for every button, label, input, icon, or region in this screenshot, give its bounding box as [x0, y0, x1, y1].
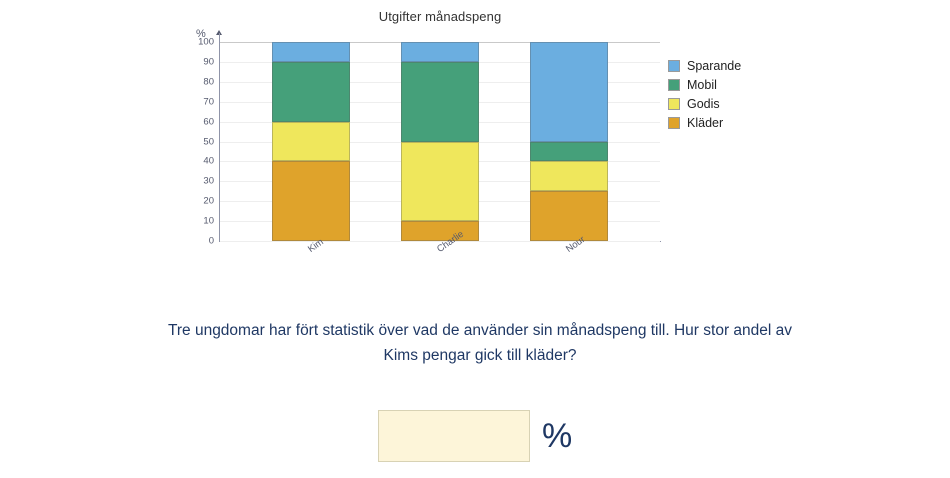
- question-text: Tre ungdomar har fört statistik över vad…: [150, 318, 810, 368]
- bar-segment-kläder: [530, 191, 608, 241]
- legend-label: Mobil: [687, 78, 717, 92]
- y-tick-label: 80: [188, 76, 214, 87]
- y-tick-label: 0: [188, 236, 214, 247]
- bar-segment-sparande: [530, 42, 608, 142]
- legend-swatch-icon: [668, 98, 680, 110]
- chart-title: Utgifter månadspeng: [220, 9, 660, 24]
- legend-swatch-icon: [668, 60, 680, 72]
- y-tick-label: 90: [188, 56, 214, 67]
- bar-segment-mobil: [401, 62, 479, 142]
- bar-segment-kläder: [272, 161, 350, 241]
- legend-label: Sparande: [687, 59, 741, 73]
- bar-segment-sparande: [272, 42, 350, 62]
- answer-row: %: [378, 410, 572, 462]
- percent-unit-label: %: [542, 419, 572, 453]
- y-tick-label: 10: [188, 216, 214, 227]
- bar-segment-sparande: [401, 42, 479, 62]
- bar-segment-kläder: [401, 221, 479, 241]
- bar-kim: [272, 42, 350, 241]
- y-axis-ticks: 1009080706050403020100: [186, 42, 214, 241]
- y-tick-label: 30: [188, 176, 214, 187]
- legend-label: Godis: [687, 97, 720, 111]
- answer-input[interactable]: [378, 410, 530, 462]
- legend-swatch-icon: [668, 117, 680, 129]
- y-tick-label: 100: [188, 37, 214, 48]
- y-tick-label: 60: [188, 116, 214, 127]
- chart-legend: SparandeMobilGodisKläder: [668, 56, 788, 132]
- y-tick-label: 70: [188, 96, 214, 107]
- legend-item-godis[interactable]: Godis: [668, 94, 788, 113]
- legend-swatch-icon: [668, 79, 680, 91]
- bar-segment-mobil: [272, 62, 350, 122]
- y-tick-label: 50: [188, 136, 214, 147]
- bar-nour: [530, 42, 608, 241]
- y-tick-label: 20: [188, 196, 214, 207]
- legend-item-kläder[interactable]: Kläder: [668, 113, 788, 132]
- legend-label: Kläder: [687, 116, 723, 130]
- plot-area: [220, 42, 660, 241]
- legend-item-sparande[interactable]: Sparande: [668, 56, 788, 75]
- bar-charlie: [401, 42, 479, 241]
- bar-segment-godis: [272, 122, 350, 162]
- legend-item-mobil[interactable]: Mobil: [668, 75, 788, 94]
- y-tick-label: 40: [188, 156, 214, 167]
- bar-segment-godis: [530, 161, 608, 191]
- bar-segment-mobil: [530, 142, 608, 162]
- bar-segment-godis: [401, 142, 479, 222]
- chart-container: Utgifter månadspeng % 100908070605040302…: [0, 0, 950, 290]
